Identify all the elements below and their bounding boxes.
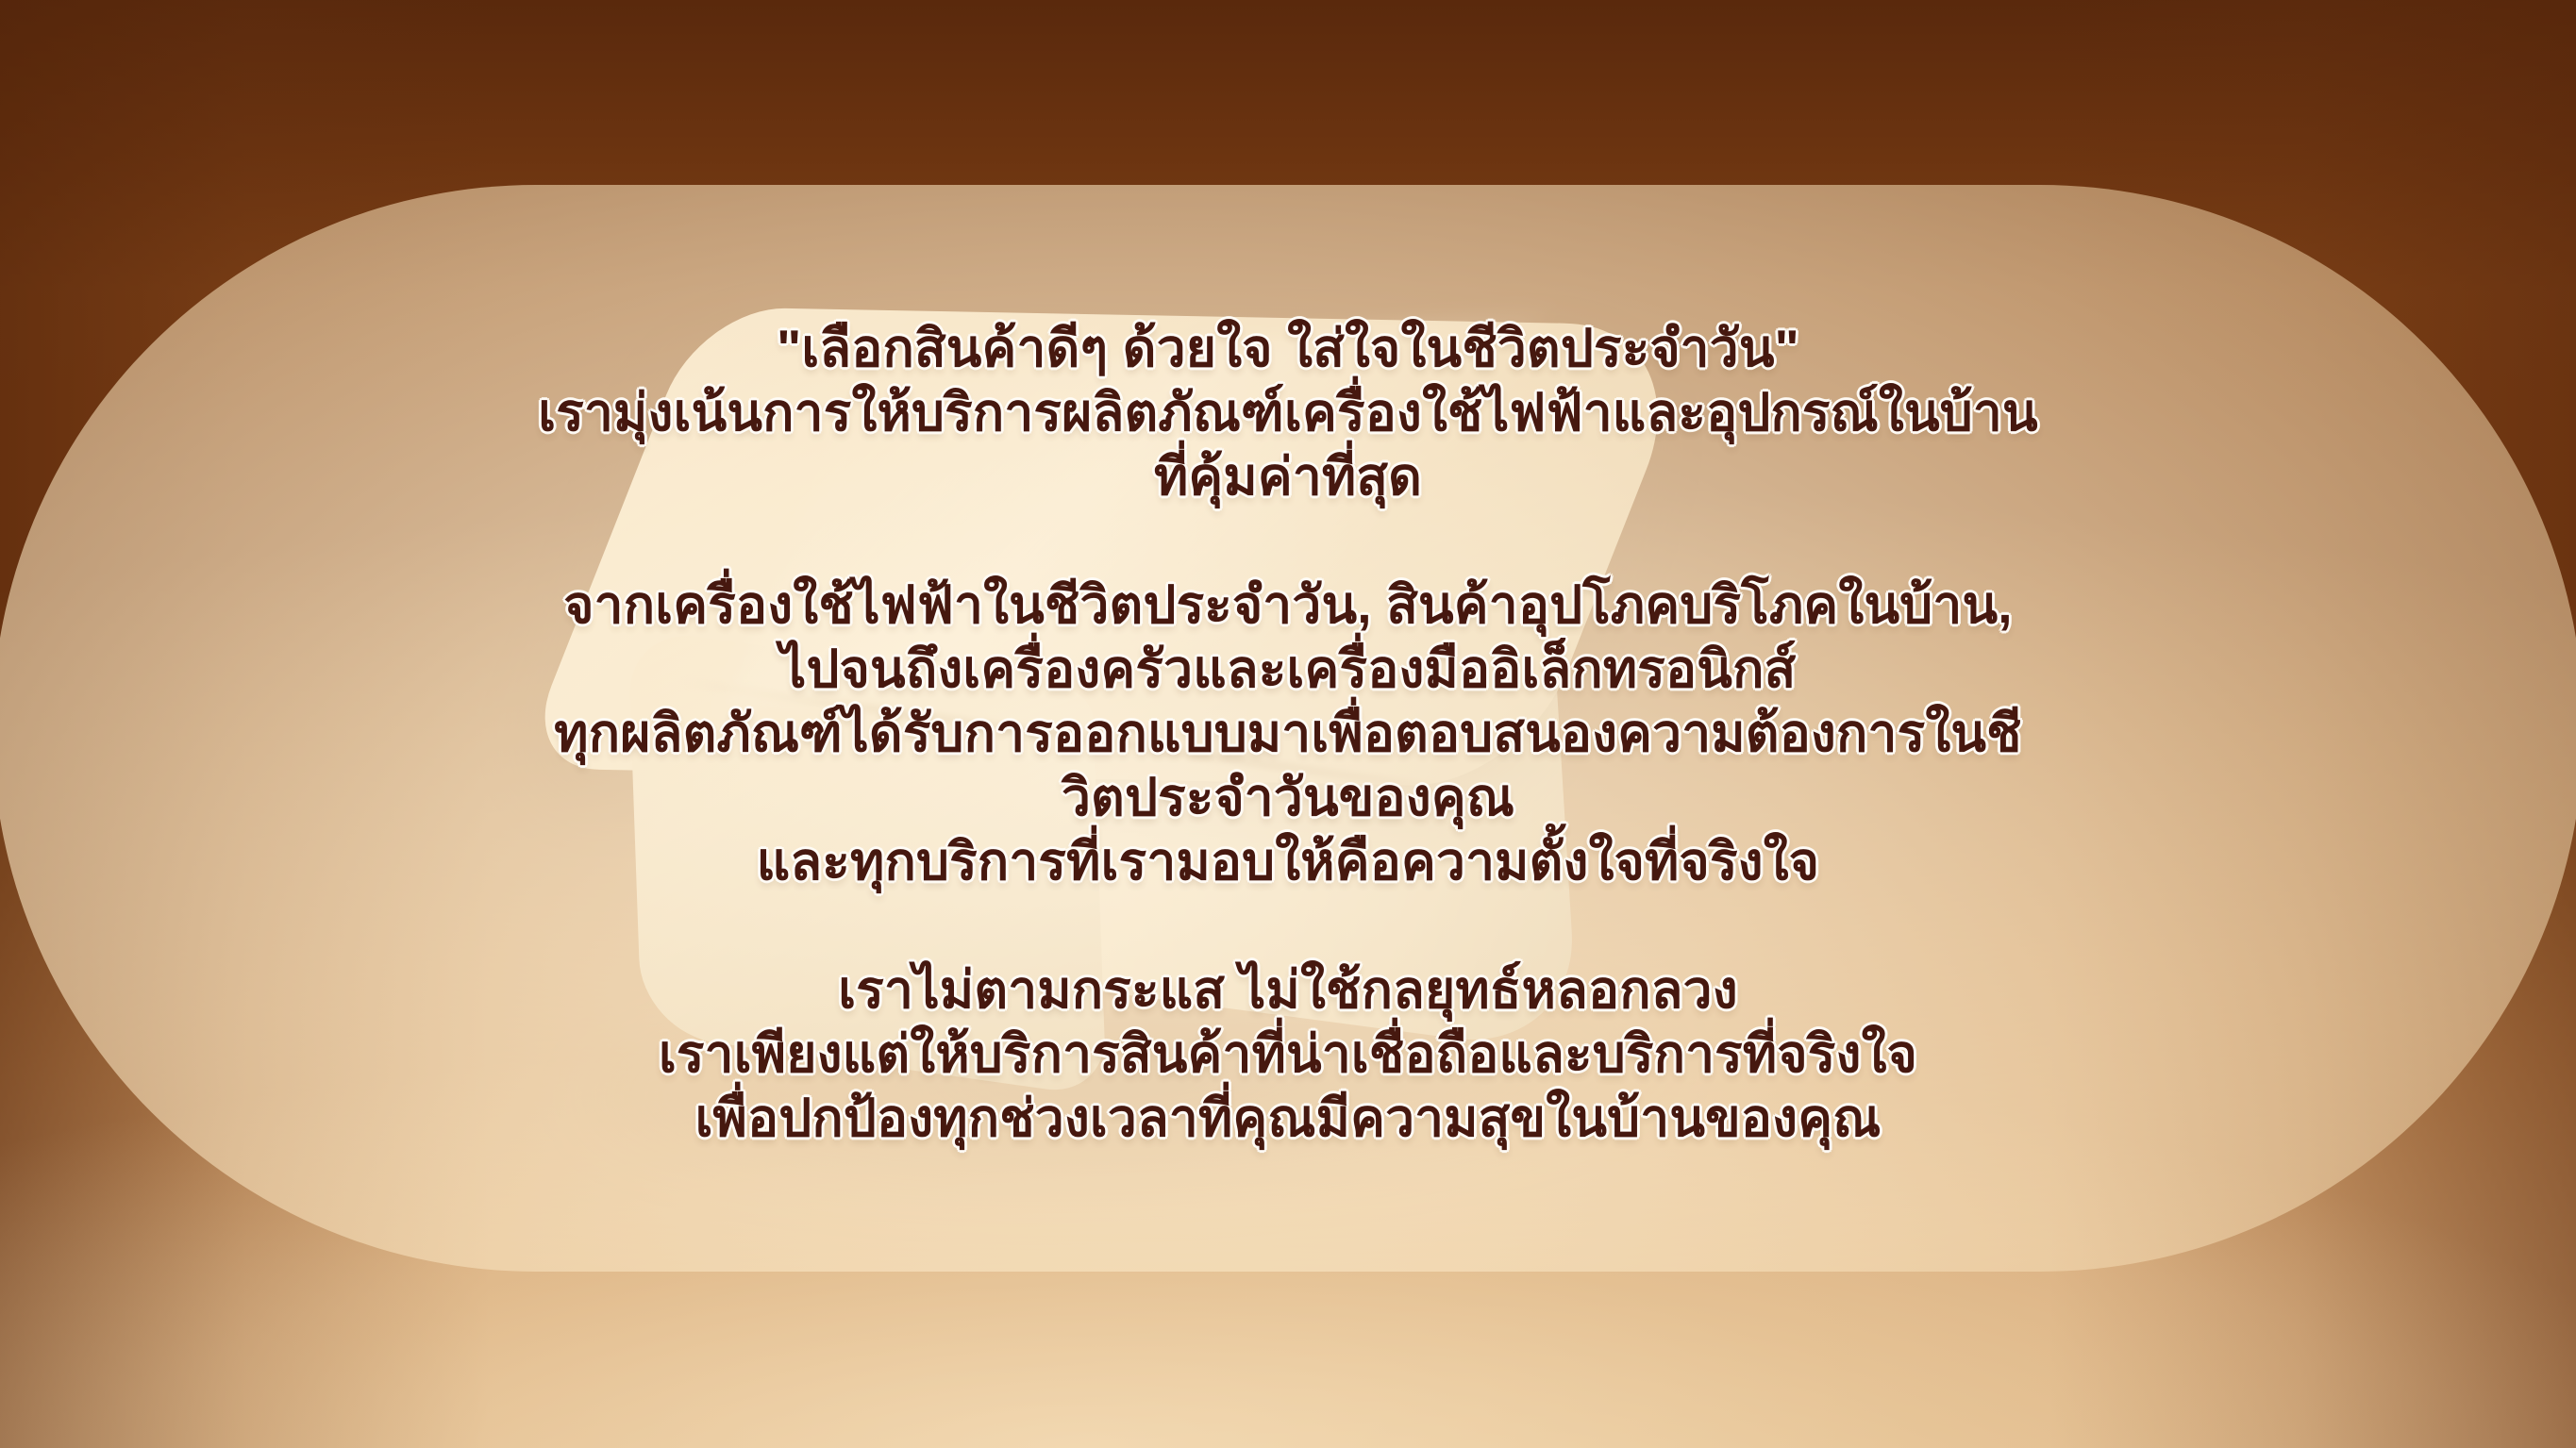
- copy-line-3: ที่คุ้มค่าที่สุด: [85, 444, 2491, 508]
- copy-line-6: ไปจนถึงเครื่องครัวและเครื่องมืออิเล็กทรอ…: [85, 637, 2491, 701]
- promo-banner-stage: "เลือกสินค้าดีๆ ด้วยใจ ใส่ใจในชีวิตประจำ…: [0, 0, 2576, 1448]
- copy-line-spacer-2: [85, 893, 2491, 957]
- marketing-copy-block: "เลือกสินค้าดีๆ ด้วยใจ ใส่ใจในชีวิตประจำ…: [0, 316, 2576, 1150]
- copy-line-5: จากเครื่องใช้ไฟฟ้าในชีวิตประจำวัน, สินค้…: [85, 573, 2491, 637]
- copy-line-1: "เลือกสินค้าดีๆ ด้วยใจ ใส่ใจในชีวิตประจำ…: [85, 316, 2491, 380]
- copy-line-12: เราเพียงแต่ให้บริการสินค้าที่น่าเชื่อถือ…: [85, 1022, 2491, 1086]
- copy-line-7: ทุกผลิตภัณฑ์ได้รับการออกแบบมาเพื่อตอบสนอ…: [85, 701, 2491, 765]
- copy-line-spacer-1: [85, 508, 2491, 573]
- copy-line-9: และทุกบริการที่เรามอบให้คือความตั้งใจที่…: [85, 829, 2491, 893]
- copy-line-13: เพื่อปกป้องทุกช่วงเวลาที่คุณมีความสุขในบ…: [85, 1086, 2491, 1150]
- copy-line-11: เราไม่ตามกระแส ไม่ใช้กลยุทธ์หลอกลวง: [85, 957, 2491, 1022]
- copy-line-2: เรามุ่งเน้นการให้บริการผลิตภัณฑ์เครื่องใ…: [85, 380, 2491, 444]
- copy-line-8: วิตประจำวันของคุณ: [85, 765, 2491, 829]
